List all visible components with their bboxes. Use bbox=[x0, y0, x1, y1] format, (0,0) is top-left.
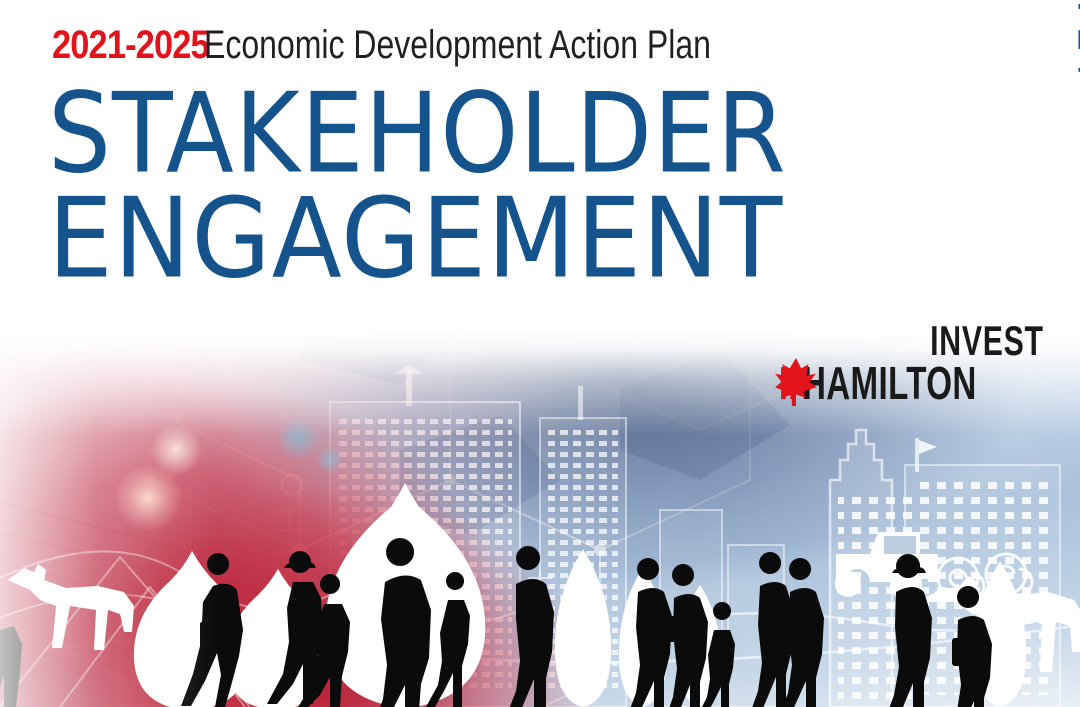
title-vertical-survey: SURVEY bbox=[1068, 0, 1080, 88]
title-line-stakeholder: STAKEHOLDER bbox=[48, 78, 787, 188]
logo-hamilton-text: HAMILTON bbox=[802, 360, 977, 406]
kicker-line: 2021-2025Economic Development Action Pla… bbox=[52, 22, 838, 68]
plan-years: 2021-2025 bbox=[52, 22, 209, 68]
title-line-engagement: ENGAGEMENT bbox=[48, 183, 783, 293]
logo-invest-text: INVEST bbox=[930, 320, 1044, 362]
plan-subtitle: Economic Development Action Plan bbox=[204, 22, 711, 68]
maple-leaf-icon bbox=[775, 358, 817, 406]
invest-in-hamilton-logo: INVEST IN HAMILTON bbox=[779, 320, 1044, 412]
stakeholder-engagement-survey-banner: 2021-2025Economic Development Action Pla… bbox=[0, 0, 1080, 707]
banner-header: 2021-2025Economic Development Action Pla… bbox=[0, 0, 1080, 340]
